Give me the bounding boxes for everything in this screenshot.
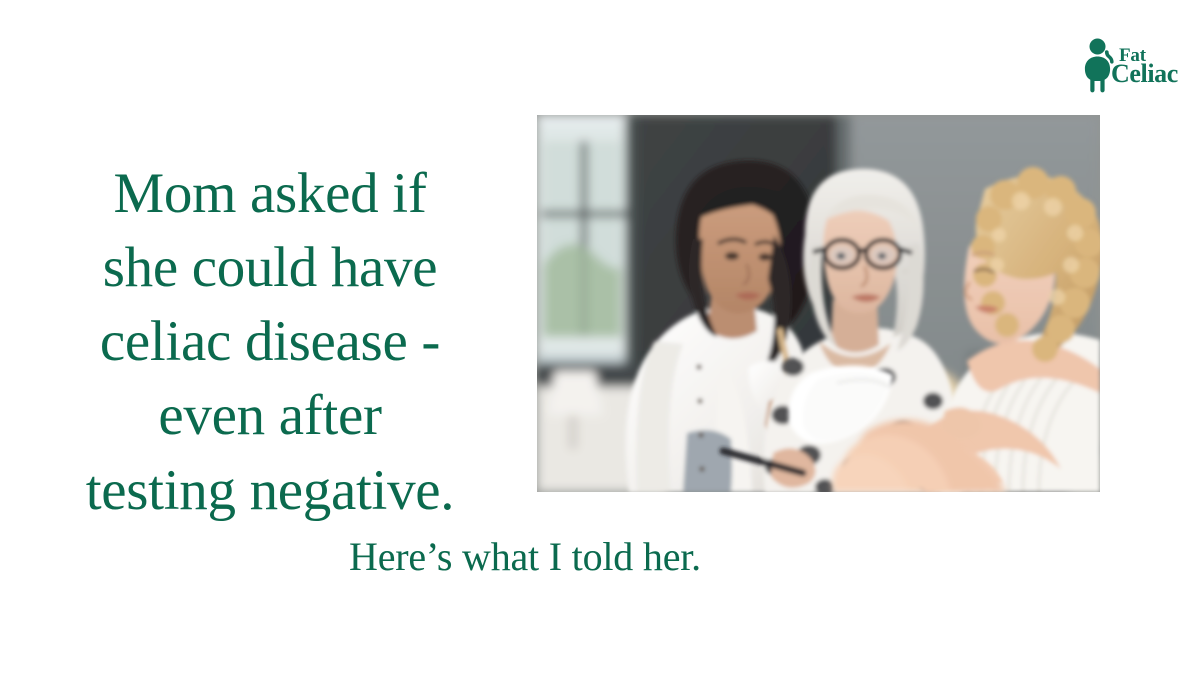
hero-photo [537, 115, 1100, 492]
hero-photo-illustration [537, 115, 1100, 492]
brand-wordmark: Fat Celiac [1119, 46, 1178, 85]
headline-line-5: testing negative. [10, 454, 530, 528]
headline: Mom asked if she could have celiac disea… [10, 157, 530, 527]
headline-line-2: she could have [10, 231, 530, 305]
headline-line-3: celiac disease - [10, 305, 530, 379]
brand-logo[interactable]: Fat Celiac [1082, 36, 1190, 94]
headline-line-1: Mom asked if [10, 157, 530, 231]
slide-canvas: Fat Celiac Mom asked if she could have c… [0, 0, 1200, 675]
brand-word-celiac: Celiac [1111, 63, 1178, 84]
subtitle: Here’s what I told her. [10, 533, 1040, 581]
headline-line-4: even after [10, 379, 530, 453]
